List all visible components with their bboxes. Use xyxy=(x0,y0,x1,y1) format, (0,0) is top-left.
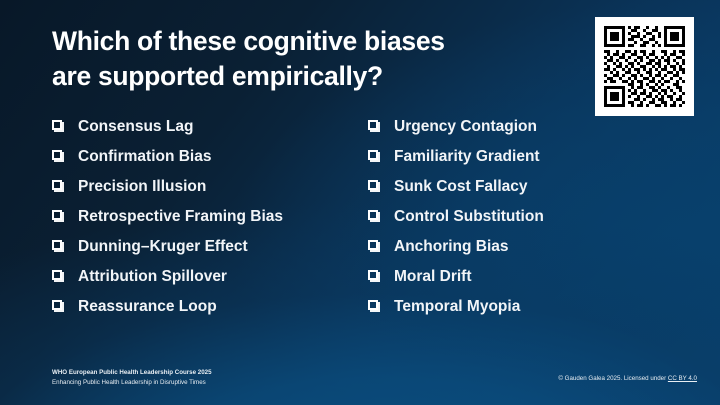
list-item[interactable]: Confirmation Bias xyxy=(52,147,362,177)
list-item-label: Retrospective Framing Bias xyxy=(78,209,283,225)
checkbox-icon[interactable] xyxy=(52,237,66,254)
checkbox-icon[interactable] xyxy=(368,267,382,284)
checkbox-icon[interactable] xyxy=(52,147,66,164)
checkbox-icon[interactable] xyxy=(52,207,66,224)
list-item-label: Familiarity Gradient xyxy=(394,149,540,165)
list-item-label: Anchoring Bias xyxy=(394,239,509,255)
list-item-label: Moral Drift xyxy=(394,269,472,285)
list-item[interactable]: Anchoring Bias xyxy=(368,237,678,267)
list-item[interactable]: Reassurance Loop xyxy=(52,297,362,327)
list-item-label: Control Substitution xyxy=(394,209,544,225)
checkbox-icon[interactable] xyxy=(368,147,382,164)
list-item[interactable]: Temporal Myopia xyxy=(368,297,678,327)
list-item-label: Consensus Lag xyxy=(78,119,193,135)
list-item[interactable]: Attribution Spillover xyxy=(52,267,362,297)
list-item[interactable]: Precision Illusion xyxy=(52,177,362,207)
list-item[interactable]: Familiarity Gradient xyxy=(368,147,678,177)
list-item[interactable]: Urgency Contagion xyxy=(368,117,678,147)
list-item-label: Urgency Contagion xyxy=(394,119,537,135)
list-item[interactable]: Sunk Cost Fallacy xyxy=(368,177,678,207)
list-item-label: Attribution Spillover xyxy=(78,269,227,285)
list-item-label: Temporal Myopia xyxy=(394,299,520,315)
footer-course-line: WHO European Public Health Leadership Co… xyxy=(52,368,212,378)
list-item-label: Dunning–Kruger Effect xyxy=(78,239,248,255)
list-item[interactable]: Consensus Lag xyxy=(52,117,362,147)
checkbox-icon[interactable] xyxy=(368,237,382,254)
list-item-label: Precision Illusion xyxy=(78,179,206,195)
checkbox-icon[interactable] xyxy=(368,117,382,134)
slide-title: Which of these cognitive biases are supp… xyxy=(52,24,572,94)
list-item[interactable]: Moral Drift xyxy=(368,267,678,297)
footer-course-info: WHO European Public Health Leadership Co… xyxy=(52,368,212,388)
checkbox-icon[interactable] xyxy=(52,117,66,134)
copyright-text: © Gauden Galea 2025. Licensed under xyxy=(558,375,667,382)
checkbox-icon[interactable] xyxy=(368,297,382,314)
checkbox-icon[interactable] xyxy=(52,267,66,284)
license-link[interactable]: CC BY 4.0 xyxy=(668,375,697,382)
slide-root: Which of these cognitive biases are supp… xyxy=(0,0,720,405)
checkbox-icon[interactable] xyxy=(368,177,382,194)
qr-code-image xyxy=(601,23,688,110)
footer-tagline: Enhancing Public Health Leadership in Di… xyxy=(52,378,212,388)
list-item[interactable]: Retrospective Framing Bias xyxy=(52,207,362,237)
footer-copyright: © Gauden Galea 2025. Licensed under CC B… xyxy=(558,375,697,384)
bias-checklist: Consensus Lag Confirmation Bias Precisio… xyxy=(52,117,678,327)
list-item[interactable]: Control Substitution xyxy=(368,207,678,237)
list-item-label: Confirmation Bias xyxy=(78,149,211,165)
checkbox-icon[interactable] xyxy=(368,207,382,224)
list-item-label: Reassurance Loop xyxy=(78,299,217,315)
list-item-label: Sunk Cost Fallacy xyxy=(394,179,528,195)
checklist-column-right: Urgency Contagion Familiarity Gradient S… xyxy=(362,117,678,327)
checkbox-icon[interactable] xyxy=(52,177,66,194)
list-item[interactable]: Dunning–Kruger Effect xyxy=(52,237,362,267)
checkbox-icon[interactable] xyxy=(52,297,66,314)
qr-code[interactable] xyxy=(595,17,694,116)
checklist-column-left: Consensus Lag Confirmation Bias Precisio… xyxy=(52,117,362,327)
